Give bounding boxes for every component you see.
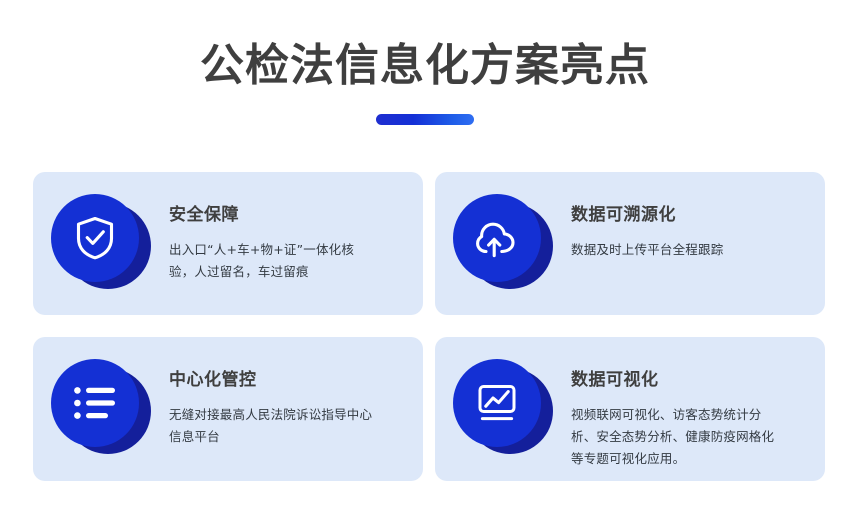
list-icon (51, 359, 139, 447)
shield-check-icon (51, 194, 139, 282)
card-title: 中心化管控 (169, 369, 379, 391)
icon-badge (51, 194, 151, 294)
cloud-upload-icon (453, 194, 541, 282)
feature-card-centralized-control[interactable]: 中心化管控 无缝对接最高人民法院诉讼指导中心信息平台 (33, 337, 423, 481)
card-text: 数据可视化 视频联网可视化、访客态势统计分析、安全态势分析、健康防疫网格化等专题… (553, 337, 790, 470)
card-text: 中心化管控 无缝对接最高人民法院诉讼指导中心信息平台 (151, 337, 393, 448)
card-title: 安全保障 (169, 204, 379, 226)
card-description: 无缝对接最高人民法院诉讼指导中心信息平台 (169, 404, 379, 448)
feature-card-grid: 安全保障 出入口“人+车+物+证”一体化核验，人过留名，车过留痕 数据可溯源化 … (33, 172, 823, 481)
card-description: 数据及时上传平台全程跟踪 (571, 239, 723, 261)
card-title: 数据可溯源化 (571, 204, 723, 226)
line-chart-icon (453, 359, 541, 447)
feature-card-traceability[interactable]: 数据可溯源化 数据及时上传平台全程跟踪 (435, 172, 825, 315)
card-text: 安全保障 出入口“人+车+物+证”一体化核验，人过留名，车过留痕 (151, 172, 393, 283)
highlights-page: 公检法信息化方案亮点 安全保障 出入口“人+车+物+证”一体化核验，人过留名，车… (0, 0, 850, 516)
feature-card-visualization[interactable]: 数据可视化 视频联网可视化、访客态势统计分析、安全态势分析、健康防疫网格化等专题… (435, 337, 825, 481)
icon-badge (51, 359, 151, 459)
title-underline-accent (376, 114, 474, 125)
page-title: 公检法信息化方案亮点 (0, 38, 850, 94)
feature-card-security[interactable]: 安全保障 出入口“人+车+物+证”一体化核验，人过留名，车过留痕 (33, 172, 423, 315)
page-header: 公检法信息化方案亮点 (0, 38, 850, 125)
icon-badge (453, 359, 553, 459)
card-description: 视频联网可视化、访客态势统计分析、安全态势分析、健康防疫网格化等专题可视化应用。 (571, 404, 776, 470)
card-description: 出入口“人+车+物+证”一体化核验，人过留名，车过留痕 (169, 239, 379, 283)
card-title: 数据可视化 (571, 369, 776, 391)
icon-badge (453, 194, 553, 294)
card-text: 数据可溯源化 数据及时上传平台全程跟踪 (553, 172, 737, 261)
